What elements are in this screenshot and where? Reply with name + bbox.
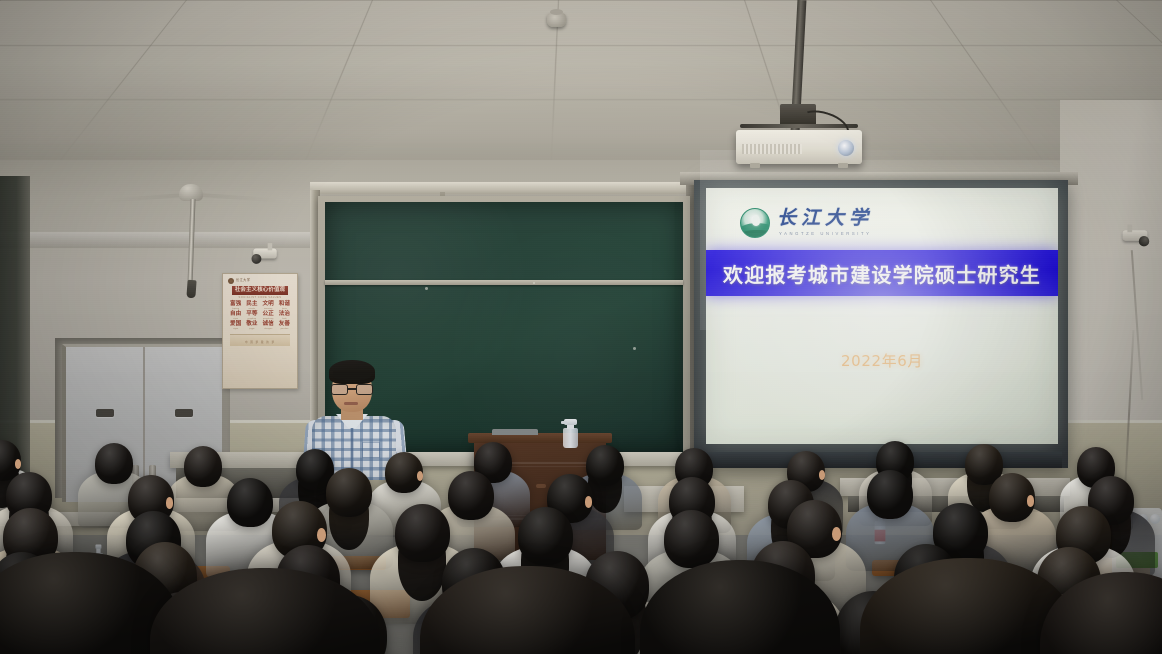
smoke-detector-icon [547, 13, 566, 27]
projector-foot [838, 163, 848, 168]
poster-footer-text: 中 国 梦 我 的 梦 [230, 335, 290, 344]
poster-value-item: 和谐hexie [277, 302, 292, 310]
security-camera-icon [253, 249, 276, 259]
glasses-lens [356, 384, 373, 395]
poster-value-zh: 富强 [228, 302, 243, 308]
projector-foot [750, 163, 760, 168]
sanitizer-spout [561, 421, 567, 424]
student-head [395, 504, 450, 562]
poster-value-item: 公正gongzheng [261, 312, 276, 320]
poster-value-zh: 爱国 [228, 322, 243, 328]
light-rod [188, 199, 196, 285]
security-camera-icon [1123, 230, 1148, 240]
slide-title-band: 欢迎报考城市建设学院硕士研究生 [706, 250, 1058, 296]
poster-value-zh: 友善 [277, 322, 292, 328]
seated-students [0, 440, 1162, 654]
student-head [867, 470, 913, 519]
poster-value-zh: 平等 [244, 312, 259, 318]
logo-droplet-icon [752, 215, 760, 226]
photo-scene: 长江大学 社会主义核心价值观 SOCIALIST CORE VALUES 富强f… [0, 0, 1162, 654]
poster-value-zh: 民主 [244, 302, 259, 308]
slide-logo-row: 长江大学 YANGTZE UNIVERSITY [706, 188, 1058, 238]
student-head [448, 471, 494, 520]
camera-lens-icon [1139, 236, 1149, 246]
door-lock-icon [175, 409, 193, 417]
poster-crest: 长江大学 [228, 278, 294, 284]
university-seal-icon [228, 278, 234, 284]
presenter-hair [329, 360, 375, 384]
student-head [326, 468, 372, 517]
chalk-speck [533, 282, 535, 284]
poster-value-item: 友善youshan [277, 322, 292, 330]
student-head [518, 507, 573, 565]
chalkboard-top-rail [310, 182, 696, 194]
projector-lens-icon [838, 140, 854, 156]
poster-values-grid: 富强fuqiang民主minzhu文明wenming和谐hexie自由ziyou… [226, 302, 294, 331]
poster-value-item: 平等pingdeng [244, 312, 259, 320]
poster-value-item: 法治fazhi [277, 312, 292, 320]
glasses-bridge [348, 388, 356, 390]
poster-value-pinyin: jingye [244, 328, 259, 330]
poster-value-zh: 诚信 [261, 322, 276, 328]
poster-value-pinyin: chengxin [261, 328, 276, 330]
student-ear [15, 459, 22, 469]
door-lock-icon [96, 409, 114, 417]
chalkboard-divider-rail [325, 280, 683, 285]
tiled-ceiling [0, 0, 1162, 176]
core-values-poster: 长江大学 社会主义核心价值观 SOCIALIST CORE VALUES 富强f… [222, 273, 298, 389]
student-ear [317, 528, 326, 542]
university-name-cn: 长江大学 [777, 209, 873, 228]
student-head [95, 443, 133, 484]
poster-value-pinyin: wenming [261, 308, 276, 310]
university-logo-icon [740, 208, 770, 238]
left-pillar [0, 176, 30, 476]
poster-value-item: 爱国aiguo [228, 322, 243, 330]
eyeglasses-icon [330, 384, 374, 395]
student-head [184, 446, 222, 487]
lectern-notch [492, 429, 538, 435]
slide-date: 2022年6月 [706, 350, 1058, 371]
university-name-block: 长江大学 YANGTZE UNIVERSITY [777, 209, 873, 236]
poster-crest-label: 长江大学 [236, 279, 250, 282]
projection-screen: 长江大学 YANGTZE UNIVERSITY 欢迎报考城市建设学院硕士研究生 … [694, 180, 1068, 468]
poster-value-zh: 敬业 [244, 322, 259, 328]
hanging-light-pole [185, 184, 197, 300]
logo-wave-icon [740, 230, 770, 237]
camera-mount [1127, 225, 1132, 233]
poster-value-zh: 法治 [277, 312, 292, 318]
poster-value-item: 富强fuqiang [228, 302, 243, 310]
poster-value-item: 自由ziyou [228, 312, 243, 320]
poster-value-zh: 和谐 [277, 302, 292, 308]
poster-value-pinyin: aiguo [228, 328, 243, 330]
presenter-mouth [344, 402, 358, 405]
poster-value-item: 敬业jingye [244, 322, 259, 330]
poster-value-item: 民主minzhu [244, 302, 259, 310]
slide-title: 欢迎报考城市建设学院硕士研究生 [723, 259, 1041, 288]
poster-banner-subtitle: SOCIALIST CORE VALUES [226, 296, 294, 299]
poster-value-pinyin: youshan [277, 328, 292, 330]
student-head [586, 445, 624, 486]
poster-value-zh: 文明 [261, 302, 276, 308]
student-head [664, 510, 719, 568]
camera-lens-icon [252, 254, 262, 264]
poster-value-pinyin: minzhu [244, 308, 259, 310]
poster-value-pinyin: fuqiang [228, 308, 243, 310]
chalk-speck [633, 347, 636, 350]
student-ear [832, 527, 841, 541]
glasses-lens [331, 384, 348, 395]
student-head [227, 478, 273, 527]
poster-value-pinyin: hexie [277, 308, 292, 310]
university-name-en: YANGTZE UNIVERSITY [779, 232, 873, 236]
light-fixture-tip [186, 280, 196, 299]
presentation-slide: 长江大学 YANGTZE UNIVERSITY 欢迎报考城市建设学院硕士研究生 … [706, 188, 1058, 444]
poster-banner-title: 社会主义核心价值观 [232, 286, 288, 295]
poster-footer: 中 国 梦 我 的 梦 [230, 334, 290, 346]
poster-value-zh: 自由 [228, 312, 243, 318]
poster-value-item: 诚信chengxin [261, 322, 276, 330]
poster-value-item: 文明wenming [261, 302, 276, 310]
poster-value-zh: 公正 [261, 312, 276, 318]
student-ear [819, 470, 826, 480]
projector-vent [742, 144, 802, 154]
student-ear [417, 471, 424, 481]
camera-mount [268, 243, 273, 250]
ceiling-projector [736, 130, 862, 164]
